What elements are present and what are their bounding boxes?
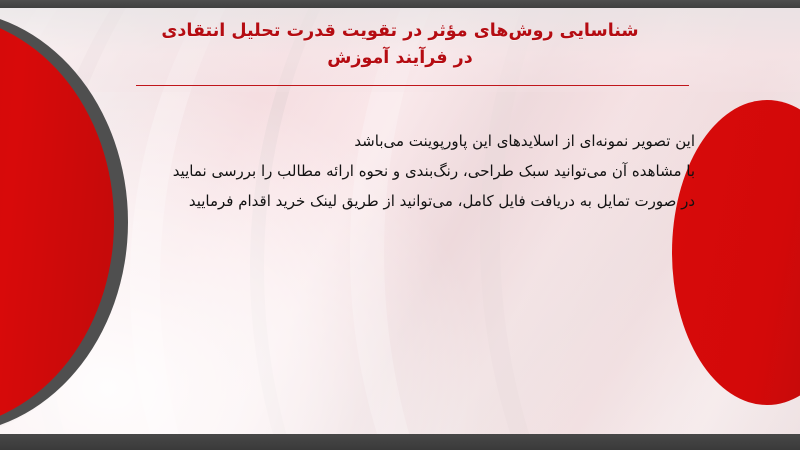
left-red-lens-shape xyxy=(0,15,114,429)
slide-content-area: شناسایی روش‌های مؤثر در تقویت قدرت تحلیل… xyxy=(0,8,800,436)
title-line-1: شناسایی روش‌های مؤثر در تقویت قدرت تحلیل… xyxy=(110,18,690,45)
title-underline-rule xyxy=(136,85,689,86)
title-line-2: در فرآیند آموزش xyxy=(110,45,690,72)
body-line-2: با مشاهده آن می‌توانید سبک طراحی، رنگ‌بن… xyxy=(75,156,695,186)
slide-body-text: این تصویر نمونه‌ای از اسلایدهای این پاور… xyxy=(75,126,695,216)
slide-bottom-border xyxy=(0,434,800,450)
body-line-3: در صورت تمایل به دریافت فایل کامل، می‌تو… xyxy=(75,186,695,216)
body-line-1: این تصویر نمونه‌ای از اسلایدهای این پاور… xyxy=(75,126,695,156)
slide-canvas: شناسایی روش‌های مؤثر در تقویت قدرت تحلیل… xyxy=(0,0,800,450)
slide-title: شناسایی روش‌های مؤثر در تقویت قدرت تحلیل… xyxy=(110,18,690,72)
